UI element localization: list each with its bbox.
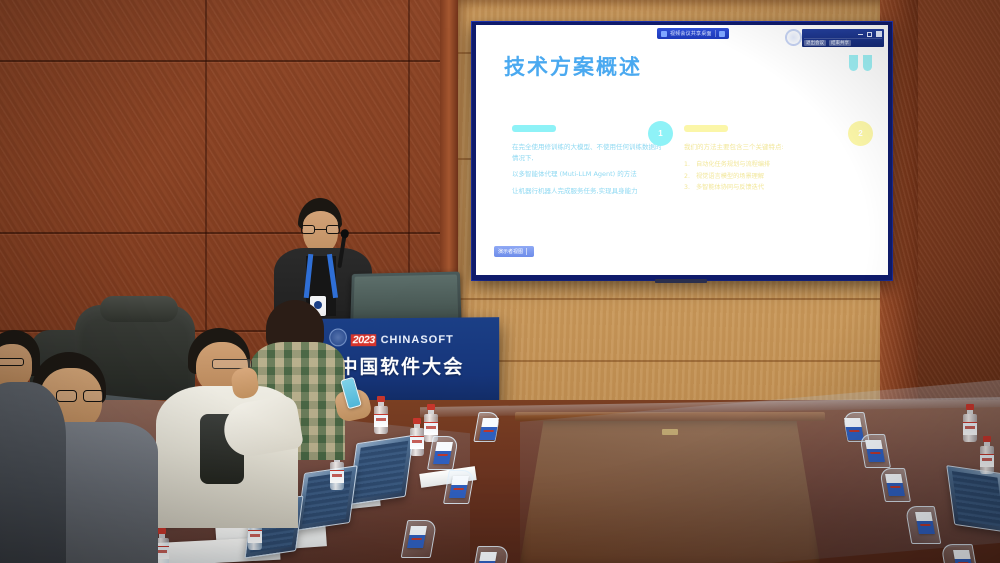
minimize-icon[interactable] — [858, 34, 863, 35]
attendee-laptop[interactable] — [950, 470, 1000, 528]
water-bottle — [980, 436, 994, 474]
badge-number-2: 2 — [848, 121, 873, 146]
banner-brand: CHINASOFT — [381, 334, 454, 346]
slide-title: 技术方案概述 — [504, 51, 642, 81]
banner-line-1: 2023 CHINASOFT — [351, 334, 454, 347]
stop-share-button[interactable]: 结束共享 — [829, 40, 851, 46]
name-card — [476, 412, 498, 442]
name-card — [404, 520, 434, 558]
list-item: 视觉语言模型的场景理解 — [684, 171, 834, 183]
button-divider — [526, 248, 527, 255]
water-bottle — [410, 418, 422, 450]
name-card — [474, 546, 506, 563]
screen-share-label: 视频会议共享桌面 — [670, 30, 712, 37]
signal-icon — [661, 31, 667, 37]
name-card — [882, 468, 908, 502]
attendee-laptop[interactable] — [352, 440, 410, 500]
left-paragraph-3: 让机器行机器人完成服务任务,实现具身能力 — [512, 186, 662, 197]
wall-seam — [0, 232, 475, 234]
chair-headrest — [100, 296, 178, 322]
badge-number-1: 1 — [648, 121, 673, 146]
banner-year: 2023 — [351, 334, 377, 346]
slide-column-left: 在完全使用修训练的大模型、不使用任何训练数据的情况下, 以多智能体代理 (Mut… — [512, 125, 662, 203]
presenter-view-label: 演示者视图 — [498, 248, 523, 255]
quote-icon — [849, 55, 872, 71]
accent-bar-yellow — [684, 125, 728, 132]
list-item: 多智能体协同与反馈迭代 — [684, 182, 834, 194]
recess-seam — [455, 298, 895, 300]
meeting-window-controls[interactable]: 退出会议 结束共享 — [802, 29, 884, 47]
left-paragraph-1: 在完全使用修训练的大模型、不使用任何训练数据的情况下, — [512, 142, 662, 163]
right-feature-list: 自动化任务规划与流程编排 视觉语言模型的场景理解 多智能体协同与反馈迭代 — [684, 159, 834, 194]
presenter-view-button[interactable]: 演示者视图 — [494, 246, 534, 257]
attendee-body — [0, 382, 66, 563]
name-card — [908, 506, 938, 544]
wall-seam — [0, 60, 475, 62]
toolbar-divider — [715, 30, 716, 37]
maximize-icon[interactable] — [867, 32, 872, 37]
attendee-laptop[interactable] — [300, 470, 354, 526]
display-mount — [655, 279, 707, 283]
leave-meeting-button[interactable]: 退出会议 — [804, 40, 826, 46]
list-item: 自动化任务规划与流程编排 — [684, 159, 834, 171]
name-card — [862, 434, 888, 468]
name-card — [446, 470, 472, 504]
conference-room-scene: 视频会议共享桌面 退出会议 结束共享 技术方案概述 — [0, 0, 1000, 563]
logo-watermark — [785, 29, 802, 46]
presenter-laptop[interactable] — [350, 272, 461, 325]
window-button-row[interactable] — [804, 30, 882, 38]
slide-canvas[interactable]: 视频会议共享桌面 退出会议 结束共享 技术方案概述 — [476, 25, 888, 275]
banner-chinese-name: 中国软件大会 — [339, 352, 464, 379]
wall-wood-panel-right — [918, 0, 1000, 430]
water-bottle — [374, 396, 385, 424]
slide-column-right: 我们的方法主要包含三个关键特点: 自动化任务规划与流程编排 视觉语言模型的场景理… — [684, 125, 834, 194]
wall-seam — [205, 0, 207, 330]
name-card — [944, 544, 976, 563]
glasses-icon — [0, 358, 24, 366]
water-bottle — [963, 404, 976, 440]
presentation-display[interactable]: 视频会议共享桌面 退出会议 结束共享 技术方案概述 — [472, 22, 892, 280]
screen-share-toolbar[interactable]: 视频会议共享桌面 — [657, 28, 729, 39]
recess-seam — [455, 360, 895, 362]
water-bottle — [424, 404, 435, 434]
right-heading: 我们的方法主要包含三个关键特点: — [684, 142, 834, 153]
glasses-icon — [301, 225, 340, 234]
left-paragraph-2: 以多智能体代理 (Muti-LLM Agent) 的方法 — [512, 169, 662, 180]
close-icon[interactable] — [876, 31, 882, 37]
meeting-action-row[interactable]: 退出会议 结束共享 — [804, 38, 882, 46]
attendee-far-left — [0, 330, 68, 563]
share-icon[interactable] — [719, 31, 725, 37]
accent-bar-cyan — [512, 125, 556, 132]
attendee-cream-jacket — [160, 328, 295, 528]
